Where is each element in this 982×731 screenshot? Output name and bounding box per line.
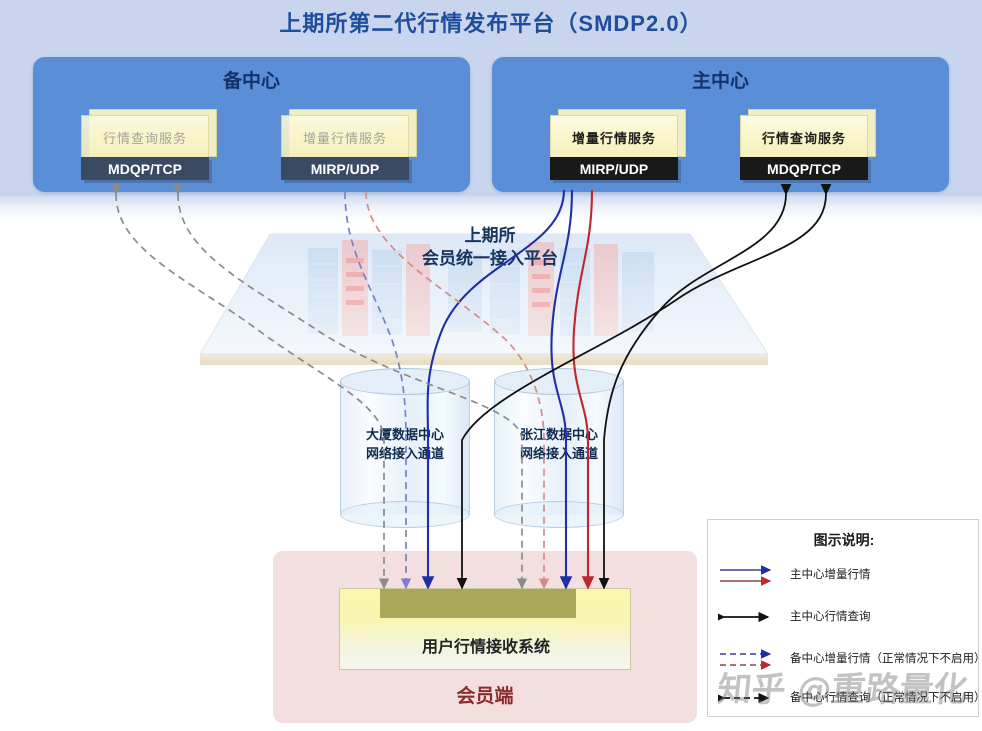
- wire-main-incremental-red: [573, 190, 592, 588]
- legend-panel: 图示说明: 主中心增量行情 主中心行情查询 备中心增量行情（正常情况下不启用）: [707, 519, 979, 717]
- legend-label: 主中心行情查询: [790, 608, 871, 624]
- wire-main-incremental-blue: [551, 190, 572, 588]
- legend-label: 备中心行情查询（正常情况下不启用）: [790, 689, 982, 705]
- legend-icon-double-dashed-arrow: [718, 644, 784, 674]
- wire-backup-incremental-dashed-blue: [345, 192, 406, 588]
- wire-backup-query-dashed-a: [116, 194, 384, 588]
- legend-row-backup-query: 备中心行情查询（正常情况下不启用）: [718, 683, 976, 713]
- legend-label: 主中心增量行情: [790, 566, 871, 582]
- legend-icon-double-headed-arrow: [718, 602, 784, 632]
- legend-title: 图示说明:: [708, 530, 980, 550]
- diagram-canvas: 上期所第二代行情发布平台（SMDP2.0）: [0, 0, 982, 731]
- wire-main-incremental-blue-left: [428, 190, 564, 588]
- wire-backup-query-dashed-b: [178, 194, 522, 588]
- legend-row-main-query: 主中心行情查询: [718, 602, 976, 632]
- legend-row-main-incremental: 主中心增量行情: [718, 560, 976, 590]
- legend-icon-dashed-double-headed-arrow: [718, 683, 784, 713]
- legend-row-backup-incremental: 备中心增量行情（正常情况下不启用）: [718, 644, 976, 674]
- legend-icon-double-solid-arrow: [718, 560, 784, 590]
- legend-label: 备中心增量行情（正常情况下不启用）: [790, 650, 982, 666]
